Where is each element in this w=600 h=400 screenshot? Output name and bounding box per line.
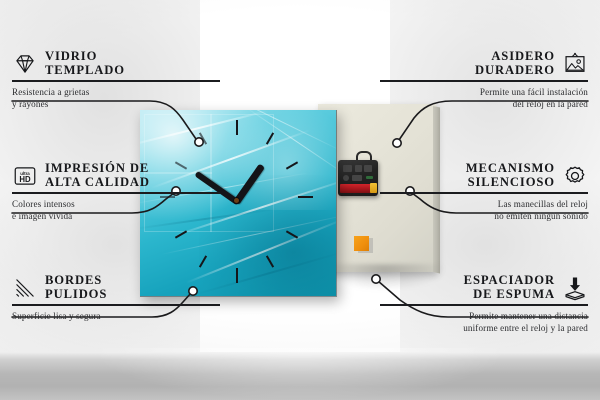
- mechanism-detail: [343, 175, 349, 181]
- feature-desc-line1: Permite una fácil instalación: [380, 86, 588, 98]
- mechanism-detail: [364, 165, 372, 172]
- feature-title-line2: DE ESPUMA: [464, 288, 555, 302]
- feature-espaciador-espuma: ESPACIADOR DE ESPUMA Permite mantener un…: [380, 274, 588, 334]
- feature-heading: ASIDERO DURADERO: [380, 50, 588, 77]
- feature-title-line1: VIDRIO: [45, 50, 125, 64]
- feature-description: Colores intensos e imagen vívida: [12, 198, 220, 222]
- feature-title-line2: PULIDOS: [45, 288, 107, 302]
- feature-title-line1: IMPRESIÓN DE: [45, 162, 150, 176]
- foam-spacer-icon: [562, 275, 588, 301]
- diamond-icon: [12, 51, 38, 77]
- mechanism-detail: [355, 165, 362, 172]
- ultra-hd-badge-icon: ultra HD: [12, 163, 38, 189]
- feature-heading: MECANISMO SILENCIOSO: [380, 162, 588, 189]
- feature-description: Permite mantener una distancia uniforme …: [380, 310, 588, 334]
- feature-desc-line2: e imagen vívida: [12, 210, 220, 222]
- feature-title: MECANISMO SILENCIOSO: [466, 162, 555, 189]
- feature-heading: BORDES PULIDOS: [12, 274, 220, 301]
- clock-tick: [236, 268, 238, 283]
- feature-desc-line2: del reloj en la pared: [380, 98, 588, 110]
- feature-asidero-duradero: ASIDERO DURADERO Permite una fácil insta…: [380, 50, 588, 110]
- mechanism-detail: [343, 165, 352, 172]
- feature-desc-line2: uniforme entre el reloj y la pared: [380, 322, 588, 334]
- feature-description: Las manecillas del reloj no emiten ningú…: [380, 198, 588, 222]
- feature-divider: [12, 304, 220, 306]
- feature-title: VIDRIO TEMPLADO: [45, 50, 125, 77]
- feature-title-line1: BORDES: [45, 274, 107, 288]
- infographic-canvas: VIDRIO TEMPLADO Resistencia a grietas y …: [0, 0, 600, 400]
- clock-tick: [298, 196, 313, 198]
- feature-title-line2: DURADERO: [475, 64, 555, 78]
- polished-edges-icon: [12, 275, 38, 301]
- feature-divider: [12, 192, 220, 194]
- feature-desc-line2: no emiten ningún sonido: [380, 210, 588, 222]
- feature-title-line2: TEMPLADO: [45, 64, 125, 78]
- clock-center-cap: [234, 198, 239, 203]
- feature-title: IMPRESIÓN DE ALTA CALIDAD: [45, 162, 150, 189]
- feature-divider: [380, 80, 588, 82]
- feature-desc-line1: Colores intensos: [12, 198, 220, 210]
- svg-text:HD: HD: [19, 175, 31, 184]
- feature-title-line1: ESPACIADOR: [464, 274, 555, 288]
- feature-divider: [380, 304, 588, 306]
- picture-hanger-icon: [562, 51, 588, 77]
- feature-divider: [12, 80, 220, 82]
- feature-title-line1: MECANISMO: [466, 162, 555, 176]
- feature-mecanismo-silencioso: MECANISMO SILENCIOSO Las manecillas del …: [380, 162, 588, 222]
- feature-desc-line2: y rayones: [12, 98, 220, 110]
- feature-title-line2: SILENCIOSO: [466, 176, 555, 190]
- feature-vidrio-templado: VIDRIO TEMPLADO Resistencia a grietas y …: [12, 50, 220, 110]
- feature-desc-line1: Las manecillas del reloj: [380, 198, 588, 210]
- feature-impresion-alta-calidad: ultra HD IMPRESIÓN DE ALTA CALIDAD Color…: [12, 162, 220, 222]
- feature-description: Superficie lisa y segura: [12, 310, 220, 322]
- feature-heading: VIDRIO TEMPLADO: [12, 50, 220, 77]
- mechanism-detail: [352, 175, 362, 181]
- feature-title: BORDES PULIDOS: [45, 274, 107, 301]
- feature-title-line2: ALTA CALIDAD: [45, 176, 150, 190]
- feature-title: ESPACIADOR DE ESPUMA: [464, 274, 555, 301]
- feature-bordes-pulidos: BORDES PULIDOS Superficie lisa y segura: [12, 274, 220, 322]
- battery-terminal: [370, 183, 377, 193]
- feature-desc-line1: Resistencia a grietas: [12, 86, 220, 98]
- feature-divider: [380, 192, 588, 194]
- surface-highlight: [90, 348, 510, 400]
- foam-spacer-pad: [354, 236, 369, 251]
- feature-heading: ESPACIADOR DE ESPUMA: [380, 274, 588, 301]
- feature-desc-line1: Superficie lisa y segura: [12, 310, 220, 322]
- gear-icon: [562, 163, 588, 189]
- feature-description: Resistencia a grietas y rayones: [12, 86, 220, 110]
- feature-heading: ultra HD IMPRESIÓN DE ALTA CALIDAD: [12, 162, 220, 189]
- feature-description: Permite una fácil instalación del reloj …: [380, 86, 588, 110]
- feature-desc-line1: Permite mantener una distancia: [380, 310, 588, 322]
- clock-tick: [236, 120, 238, 135]
- feature-title: ASIDERO DURADERO: [475, 50, 555, 77]
- feature-title-line1: ASIDERO: [475, 50, 555, 64]
- mechanism-detail: [366, 176, 373, 179]
